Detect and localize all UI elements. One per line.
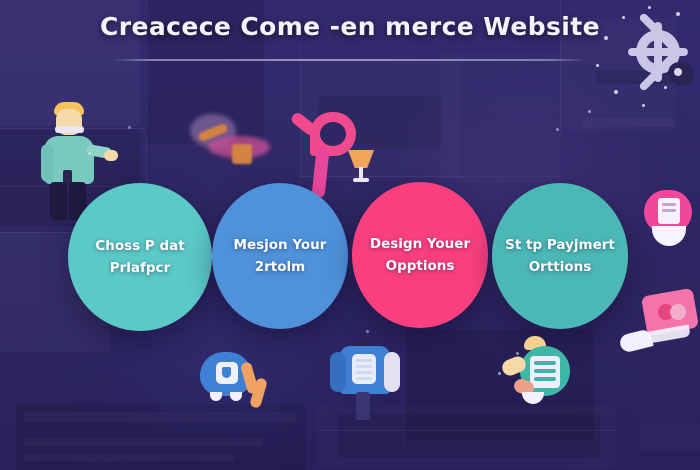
step-3-line-1: Design Youer: [370, 236, 470, 252]
infographic-canvas: Creacece Come -en merce Website Choss P …: [0, 0, 700, 470]
step-circle-4[interactable]: St tp Payjmert Orttions: [492, 183, 628, 329]
payment-card-icon: [644, 190, 700, 248]
step-1-line-2: Prlafpcr: [110, 260, 171, 276]
tshirt-icon: [330, 340, 406, 420]
step-circle-3[interactable]: Design Youer Opptions: [352, 182, 488, 328]
step-2-line-1: Mesjon Your: [234, 237, 327, 253]
checklist-icon: [502, 336, 580, 414]
credit-card-icon: [644, 288, 700, 340]
step-3-line-2: Opptions: [386, 258, 455, 274]
step-4-line-1: St tp Payjmert: [505, 237, 615, 253]
step-2-line-2: 2rtolm: [255, 259, 305, 275]
step-circle-1[interactable]: Choss P dat Prlafpcr: [68, 183, 212, 331]
shopping-bag-icon: [200, 348, 260, 404]
step-4-line-2: Orttions: [529, 259, 592, 275]
step-1-line-1: Choss P dat: [95, 238, 184, 254]
step-circle-2[interactable]: Mesjon Your 2rtolm: [212, 183, 348, 329]
